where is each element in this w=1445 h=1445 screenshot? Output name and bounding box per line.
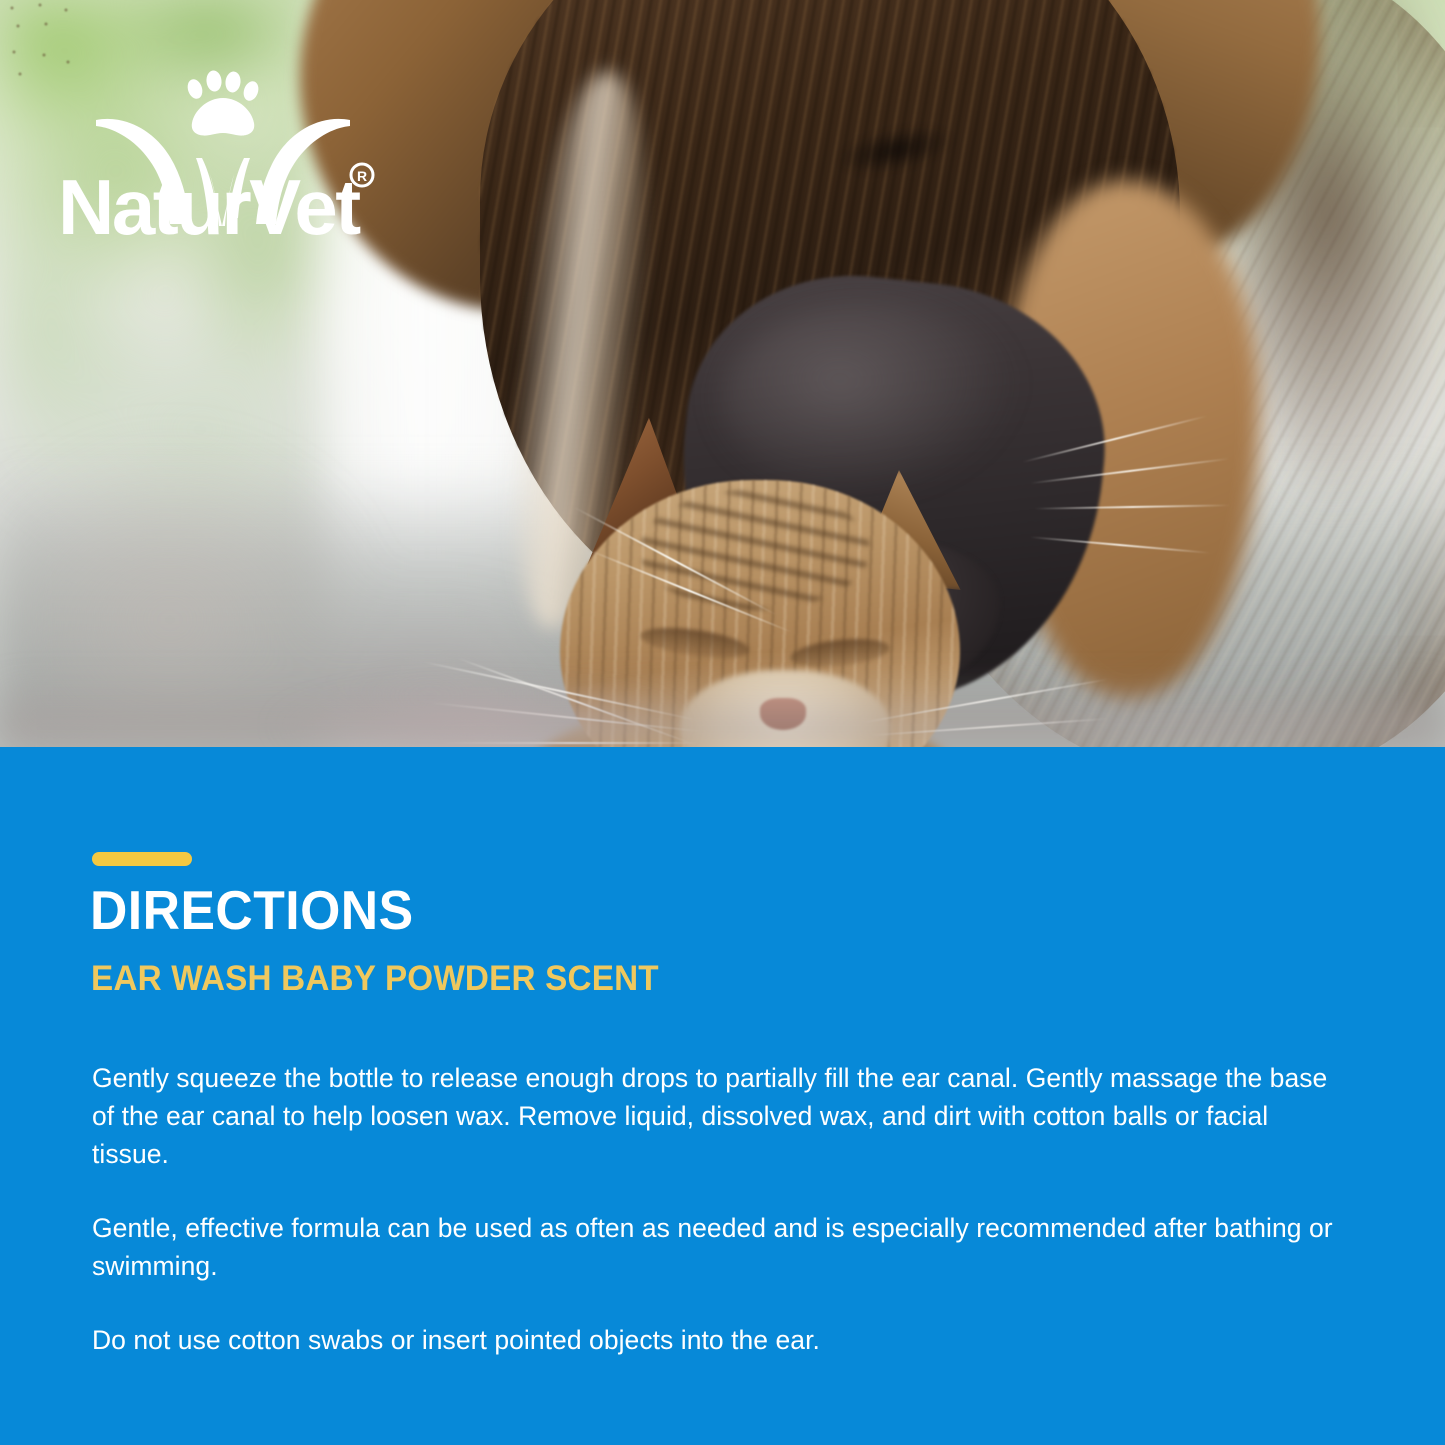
naturvet-wordmark: NaturVet [60, 163, 361, 242]
directions-paragraph: Gently squeeze the bottle to release eno… [92, 1059, 1350, 1173]
directions-paragraph: Gentle, effective formula can be used as… [92, 1209, 1350, 1285]
product-subtitle: EAR WASH BABY POWDER SCENT [91, 961, 659, 996]
registered-mark-letter: R [357, 168, 367, 184]
cat-forehead-stripes [640, 490, 870, 610]
directions-body: Gently squeeze the bottle to release eno… [92, 1059, 1350, 1359]
paw-print-icon [185, 70, 261, 136]
cat-whisker-pad-left [0, 0, 80, 46]
svg-text:NaturVet: NaturVet [60, 163, 361, 242]
dog-muzzle-highlight [720, 300, 1020, 500]
accent-bar [92, 852, 192, 866]
hero-photo: NaturVet R [0, 0, 1445, 747]
page-title: DIRECTIONS [90, 883, 414, 938]
product-directions-page: NaturVet R DIRECTIONS EAR WASH BABY POWD… [0, 0, 1445, 1445]
directions-panel: DIRECTIONS EAR WASH BABY POWDER SCENT Ge… [0, 747, 1445, 1445]
directions-paragraph: Do not use cotton swabs or insert pointe… [92, 1321, 1350, 1359]
naturvet-logo[interactable]: NaturVet R [60, 62, 380, 242]
photo-foreground-blur [0, 677, 1445, 747]
